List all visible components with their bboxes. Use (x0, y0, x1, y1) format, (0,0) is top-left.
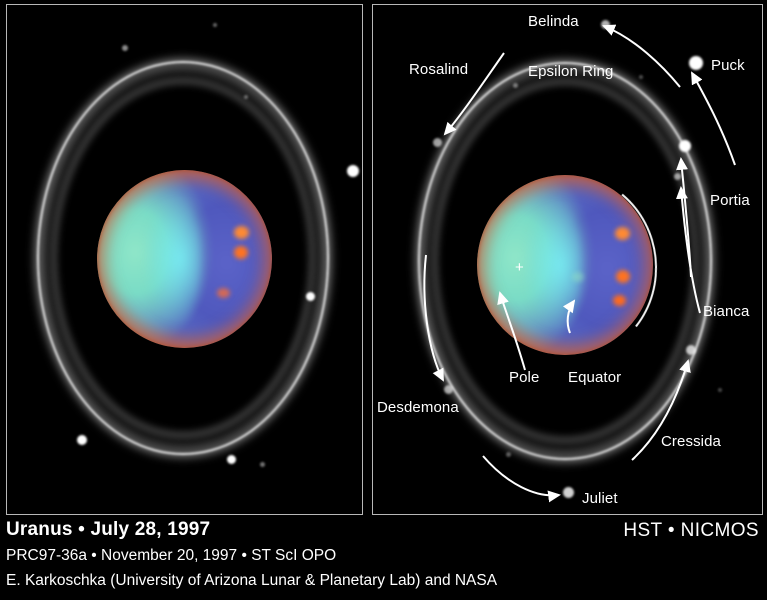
caption-line-2: PRC97-36a • November 20, 1997 • ST ScI O… (6, 547, 336, 565)
caption-instrument: HST • NICMOS (623, 520, 759, 542)
moon-portia (679, 140, 691, 152)
uranus-scene-left (7, 5, 362, 514)
label-equator: Equator (568, 369, 621, 386)
moon-desdemona (444, 385, 453, 394)
label-cressida: Cressida (661, 433, 721, 450)
cloud-spot-upper (234, 226, 249, 239)
moon-puck (689, 56, 703, 70)
label-portia: Portia (710, 192, 750, 209)
planet-limb (97, 170, 272, 348)
moon-cressida (686, 345, 696, 355)
cloud-spot-lower (234, 246, 248, 259)
label-juliet: Juliet (582, 490, 618, 507)
label-rosalind: Rosalind (409, 61, 468, 78)
moon-point (227, 455, 236, 464)
label-pole: Pole (509, 369, 539, 386)
moon-point (244, 95, 248, 99)
caption-line-3: E. Karkoschka (University of Arizona Lun… (6, 572, 497, 590)
label-desdemona: Desdemona (377, 399, 459, 416)
moon-point (347, 165, 359, 177)
label-bianca: Bianca (703, 303, 749, 320)
cloud-spot-south (217, 288, 230, 298)
uranus-scene-right: + (373, 5, 762, 514)
moon-juliet (563, 487, 574, 498)
moon-bianca (674, 173, 681, 180)
moon-point (718, 388, 722, 392)
annotated-uranus-panel: + (372, 4, 763, 515)
uranus-press-release-image: + (0, 0, 767, 600)
unannotated-uranus-panel (6, 4, 363, 515)
moon-belinda (601, 20, 610, 29)
moon-point (77, 435, 87, 445)
label-puck: Puck (711, 57, 745, 74)
moon-point (260, 462, 265, 467)
moon-point (306, 292, 315, 301)
moon-point (639, 75, 643, 79)
moon-point (122, 45, 128, 51)
moon-rosalind (433, 138, 442, 147)
caption-block: Uranus • July 28, 1997 HST • NICMOS PRC9… (0, 516, 767, 600)
caption-title: Uranus • July 28, 1997 (6, 519, 210, 541)
moon-point (513, 83, 518, 88)
moon-point (506, 452, 511, 457)
moon-point (213, 23, 217, 27)
label-epsilon-ring: Epsilon Ring (528, 63, 613, 80)
label-belinda: Belinda (528, 13, 579, 30)
uranus-disk (97, 170, 272, 348)
pole-marker-icon: + (515, 260, 524, 275)
